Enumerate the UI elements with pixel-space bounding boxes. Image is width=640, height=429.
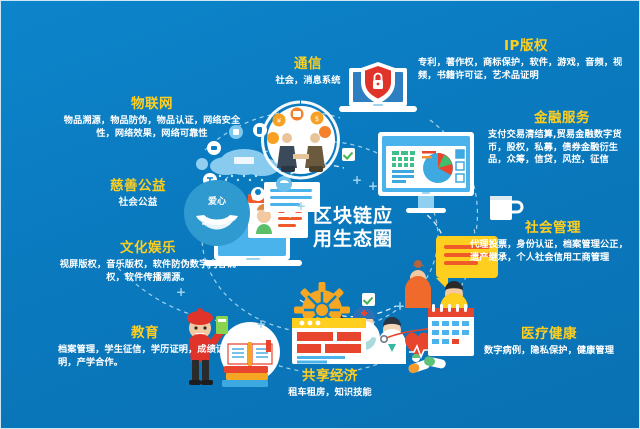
coffee-mug-icon xyxy=(488,190,522,224)
topic-label-iot[interactable]: 物联网 物品溯源，物品防伪，物品认证，网络安全性，网络效果，网络可靠性 xyxy=(52,96,252,140)
plus-decor-icon: + xyxy=(256,318,266,330)
plus-decor-icon: + xyxy=(296,200,306,212)
page-title: 区块链应 用生态圈 xyxy=(313,205,409,251)
page-title-line2: 用生态圈 xyxy=(313,228,409,251)
topic-desc: 支付交易清结算,贸易金融数字货币，股权，私募，债券金融衍生品，众筹，信贷，风控，… xyxy=(488,126,636,167)
plus-decor-icon: + xyxy=(395,300,405,312)
topic-desc: 档案管理，学生征信，学历证明，成绩证明，产学合作。 xyxy=(52,341,238,369)
check-decor-icon xyxy=(342,148,355,161)
topic-desc: 社会，消息系统 xyxy=(243,72,373,88)
handshake-icon: ¥ $ xyxy=(255,98,347,182)
topic-title: IP版权 xyxy=(418,38,634,54)
page-title-line1: 区块链应 xyxy=(313,205,409,228)
svg-text:爱心: 爱心 xyxy=(208,195,226,207)
topic-label-charity[interactable]: 慈善公益 社会公益 xyxy=(76,178,200,210)
topic-label-communication[interactable]: 通信 社会，消息系统 xyxy=(243,56,373,88)
topic-title: 共享经济 xyxy=(252,368,408,384)
plus-decor-icon: + xyxy=(352,174,362,186)
topic-title: 医疗健康 xyxy=(462,326,636,342)
topic-desc: 代理投票，身份认证，档案管理公正，遗产继承，个人社会信用工商管理 xyxy=(470,236,636,264)
plus-decor-icon: + xyxy=(368,180,378,192)
topic-desc: 专利，著作权，商标保护，软件，游戏，音频，视频，书籍许可证，艺术品证明 xyxy=(418,54,634,82)
topic-title: 通信 xyxy=(243,56,373,72)
topic-label-financial-services[interactable]: 金融服务 支付交易清结算,贸易金融数字货币，股权，私募，债券金融衍生品，众筹，信… xyxy=(488,110,636,167)
topic-label-social-management[interactable]: 社会管理 代理投票，身份认证，档案管理公正，遗产继承，个人社会信用工商管理 xyxy=(470,220,636,264)
topic-label-ip-copyright[interactable]: IP版权 专利，著作权，商标保护，软件，游戏，音频，视频，书籍许可证，艺术品证明 xyxy=(418,38,634,82)
topic-desc: 视屏版权，音乐版权，软件防伪数字内容确权，软件传播溯源。 xyxy=(50,256,246,284)
topic-desc: 物品溯源，物品防伪，物品认证，网络安全性，网络效果，网络可靠性 xyxy=(52,112,252,140)
svg-text:$: $ xyxy=(315,115,319,123)
topic-title: 慈善公益 xyxy=(76,178,200,194)
plus-decor-icon: + xyxy=(176,286,186,298)
topic-label-medical-health[interactable]: 医疗健康 数字病例，隐私保护，健康管理 xyxy=(462,326,636,358)
topic-title: 教育 xyxy=(52,325,238,341)
topic-label-sharing-economy[interactable]: 共享经济 租车租房，知识技能 xyxy=(252,368,408,400)
topic-title: 社会管理 xyxy=(470,220,636,236)
topic-title: 金融服务 xyxy=(488,110,636,126)
topic-desc: 数字病例，隐私保护，健康管理 xyxy=(462,342,636,358)
svg-text:¥: ¥ xyxy=(277,117,282,125)
infographic-canvas: ¥ $ xyxy=(0,0,640,429)
topic-desc: 社会公益 xyxy=(76,194,200,210)
check-decor-icon xyxy=(362,293,375,306)
topic-title: 物联网 xyxy=(52,96,252,112)
topic-title: 文化娱乐 xyxy=(50,240,246,256)
topic-desc: 租车租房，知识技能 xyxy=(252,384,408,400)
topic-label-education[interactable]: 教育 档案管理，学生征信，学历证明，成绩证明，产学合作。 xyxy=(52,325,238,369)
topic-label-culture-entertainment[interactable]: 文化娱乐 视屏版权，音乐版权，软件防伪数字内容确权，软件传播溯源。 xyxy=(50,240,246,284)
